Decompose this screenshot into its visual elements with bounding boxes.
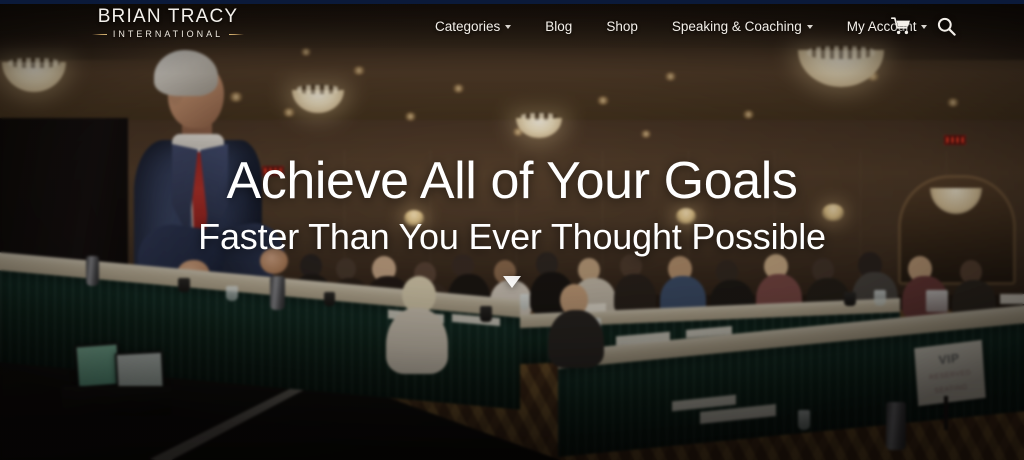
- page-root: VIP RESERVED SEATING BRIAN TRACY INTERNA…: [0, 0, 1024, 460]
- pot-light: [452, 84, 465, 93]
- vip-sign-line1: RESERVED: [929, 369, 972, 381]
- search-icon[interactable]: [937, 17, 956, 36]
- nav-item-shop[interactable]: Shop: [589, 4, 655, 48]
- ceiling-chandelier: [292, 84, 344, 118]
- nav-label-shop: Shop: [606, 19, 638, 34]
- wall-sconce: [404, 210, 424, 226]
- scroll-down-arrow-icon[interactable]: [503, 276, 521, 288]
- vip-sign-line2: SEATING: [934, 383, 968, 394]
- water-glass: [226, 286, 238, 301]
- site-header: BRIAN TRACY INTERNATIONAL Categories Blo…: [0, 4, 1024, 48]
- pot-light: [742, 110, 755, 119]
- vip-sign-title: VIP: [938, 351, 960, 368]
- attendee-body: [548, 310, 604, 368]
- nav-item-blog[interactable]: Blog: [528, 4, 589, 48]
- cart-icon[interactable]: [891, 17, 911, 35]
- header-icon-group: [891, 4, 956, 48]
- wall-sconce: [676, 208, 696, 224]
- vip-reserved-seating-sign: VIP RESERVED SEATING: [914, 340, 986, 406]
- pot-light: [596, 96, 610, 105]
- confidence-monitor: [74, 343, 121, 392]
- logo-primary-text: BRIAN TRACY: [92, 6, 244, 28]
- monitor-stand: [62, 386, 172, 416]
- water-glass: [520, 294, 529, 310]
- nav-item-categories[interactable]: Categories: [418, 4, 528, 48]
- attendee-head: [336, 258, 356, 280]
- hero-background-photo: VIP RESERVED SEATING: [0, 0, 1024, 460]
- ceiling-chandelier: [798, 44, 884, 98]
- pot-light: [300, 48, 312, 56]
- coffee-cup: [844, 292, 856, 306]
- beverage-carafe: [86, 256, 99, 286]
- beverage-carafe: [886, 402, 906, 450]
- nav-item-speaking-coaching[interactable]: Speaking & Coaching: [655, 4, 830, 48]
- ceiling-chandelier: [516, 112, 562, 142]
- ceiling-chandelier: [2, 56, 66, 100]
- logo-subtitle-row: INTERNATIONAL: [92, 29, 244, 39]
- chevron-down-icon: [505, 25, 511, 29]
- attendee-body: [386, 308, 448, 374]
- paper-handout: [1000, 294, 1024, 304]
- wall-sconce: [822, 204, 844, 221]
- nav-label-categories: Categories: [435, 19, 500, 34]
- chevron-down-icon: [807, 25, 813, 29]
- main-navigation: Categories Blog Shop Speaking & Coaching…: [418, 4, 944, 48]
- pot-light: [946, 98, 960, 107]
- pot-light: [352, 66, 366, 75]
- logo-rule-left: [92, 34, 107, 35]
- coffee-cup: [480, 306, 492, 322]
- exit-sign: [944, 135, 966, 145]
- pot-light: [664, 72, 677, 81]
- nav-label-speaking-coaching: Speaking & Coaching: [672, 19, 802, 34]
- logo-rule-right: [229, 34, 244, 35]
- water-glass: [926, 290, 948, 312]
- pot-light: [640, 130, 652, 138]
- coffee-cup: [324, 292, 335, 306]
- coffee-cup: [178, 278, 190, 292]
- pot-light: [404, 112, 417, 121]
- vip-sign-stand: [944, 396, 948, 430]
- beverage-carafe: [270, 276, 285, 310]
- logo-secondary-text: INTERNATIONAL: [113, 29, 223, 39]
- water-glass: [874, 290, 886, 306]
- site-logo[interactable]: BRIAN TRACY INTERNATIONAL: [92, 6, 244, 39]
- top-accent-strip: [0, 0, 1024, 4]
- nav-label-blog: Blog: [545, 19, 572, 34]
- water-glass: [798, 410, 810, 430]
- speaker-hair: [154, 50, 218, 96]
